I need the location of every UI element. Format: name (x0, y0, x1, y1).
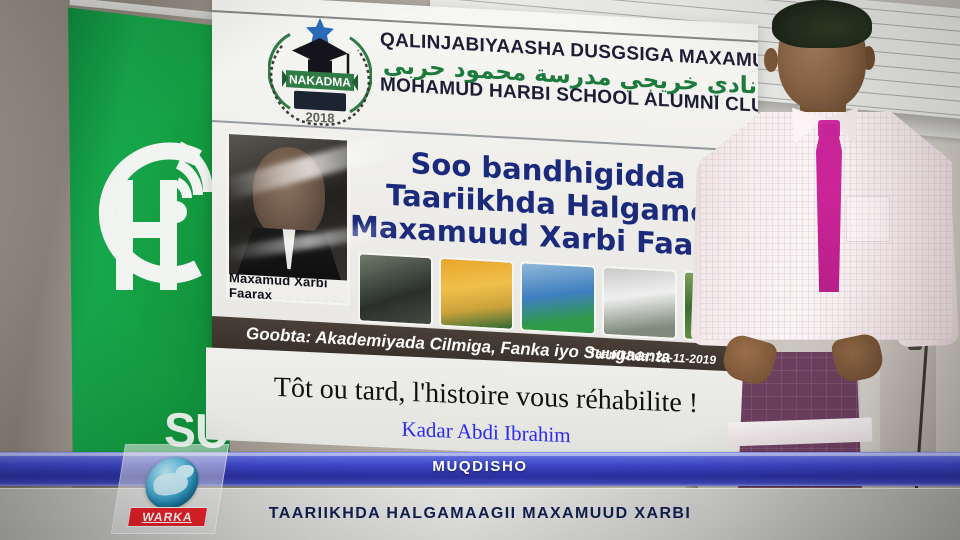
nakadma-crest-icon: NAKADMA 2018 (268, 11, 372, 133)
photo-crowd-yellow (439, 257, 514, 331)
hi-wifi-h-logo (86, 128, 218, 298)
warka-label-text: WARKA (141, 510, 194, 524)
svg-text:2018: 2018 (306, 109, 335, 126)
photo-crowd-blue (520, 261, 595, 335)
portrait-caption: Maxamud Xarbi Faarax (229, 274, 347, 303)
presenter-tie (816, 124, 842, 292)
macawis-white-band (728, 417, 873, 446)
broadcast-frame: SU JC NAKADMA (0, 0, 960, 540)
globe-landmass-secondary (175, 465, 195, 479)
event-banner: NAKADMA 2018 QALINJABIYAASHA DUSGSIGA MA… (212, 0, 758, 401)
presenter-ear-left (764, 48, 778, 72)
photo-building (358, 252, 433, 326)
warka-logo-badge: WARKA (111, 444, 229, 534)
presenter-hair (772, 0, 872, 48)
banner-portrait-photo: Maxamud Xarbi Faarax (226, 131, 350, 306)
warka-label-tag: WARKA (127, 507, 208, 527)
globe-icon (142, 457, 202, 509)
shirt-pocket (846, 196, 890, 242)
photo-crowd-white (602, 266, 677, 340)
